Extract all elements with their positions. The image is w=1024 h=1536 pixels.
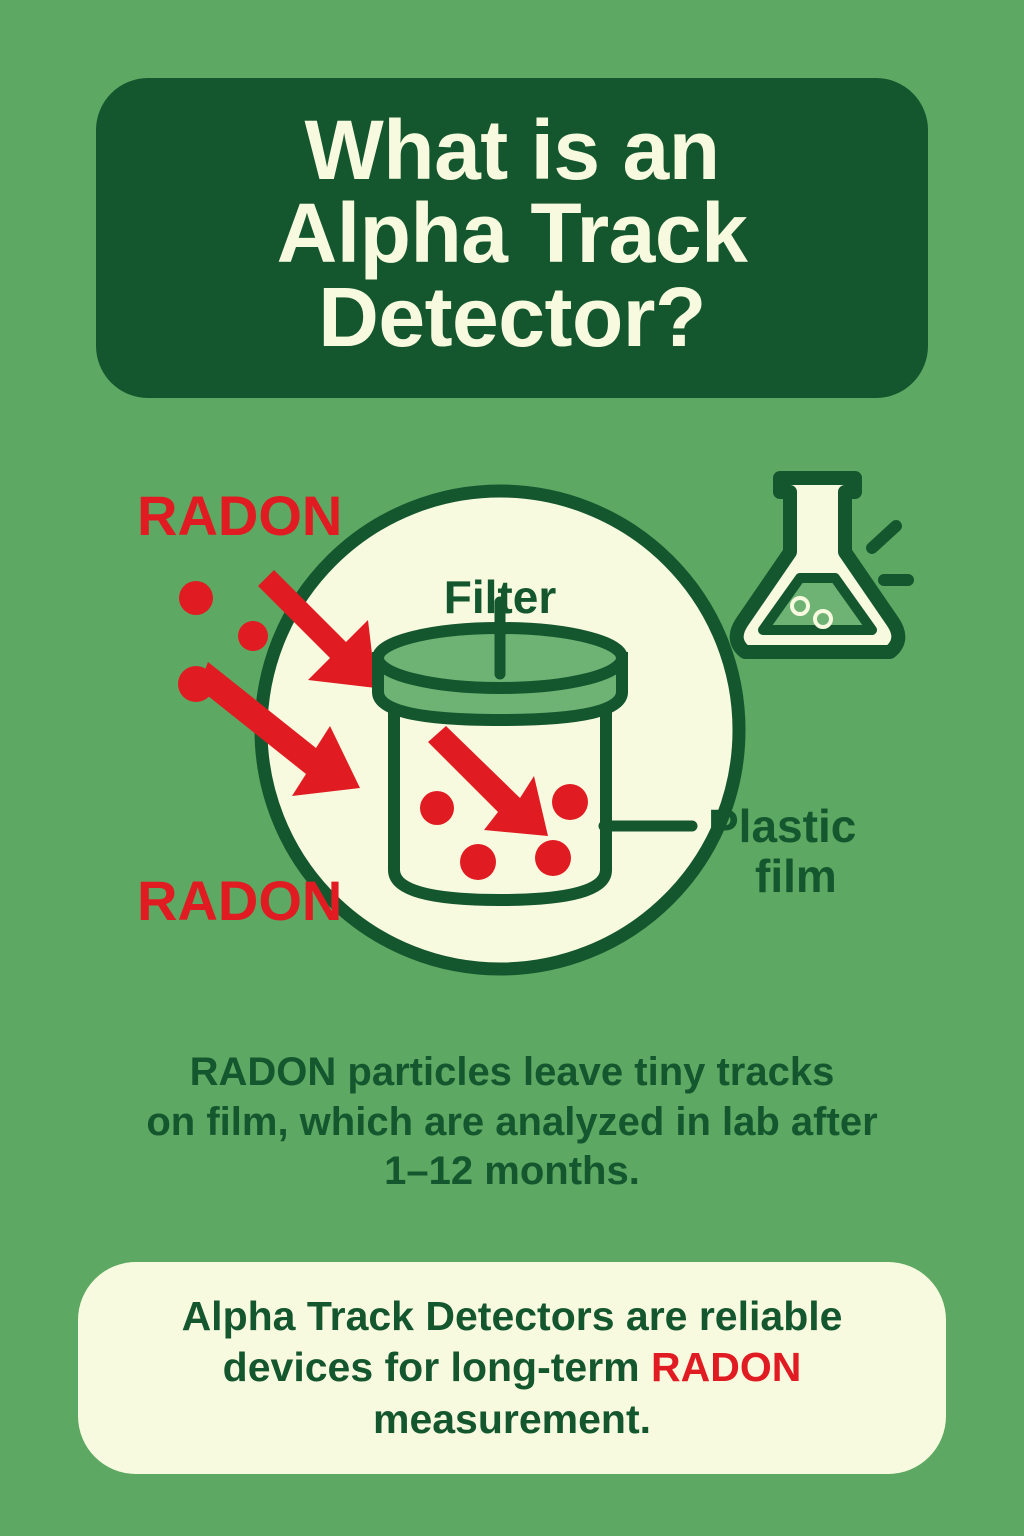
erlenmeyer-flask-icon	[737, 478, 908, 652]
callout-text: Alpha Track Detectors are reliable devic…	[118, 1291, 906, 1446]
plastic-film-label-line1: Plastic	[708, 800, 856, 852]
radon-particle-icon	[238, 621, 268, 651]
radon-label-top: RADON	[137, 484, 342, 547]
radon-particle-icon	[179, 581, 213, 615]
title-card: What is an Alpha Track Detector?	[96, 78, 928, 398]
radon-label-bottom: RADON	[137, 869, 342, 932]
filter-label: Filter	[444, 571, 557, 623]
detector-diagram: RADON RADON Filter Plastic film	[0, 430, 1024, 1030]
radon-particle-inside-icon	[535, 840, 571, 876]
radon-particle-inside-icon	[460, 844, 496, 880]
radon-particle-inside-icon	[552, 784, 588, 820]
plastic-film-label-line2: film	[755, 850, 837, 902]
body-paragraph: RADON particles leave tiny tracks on fil…	[62, 1048, 962, 1197]
callout-text-part2: measurement.	[373, 1396, 651, 1442]
callout-highlight-radon: RADON	[651, 1344, 801, 1390]
callout-card: Alpha Track Detectors are reliable devic…	[78, 1262, 946, 1474]
radon-particle-inside-icon	[420, 791, 454, 825]
page-title: What is an Alpha Track Detector?	[277, 109, 748, 358]
